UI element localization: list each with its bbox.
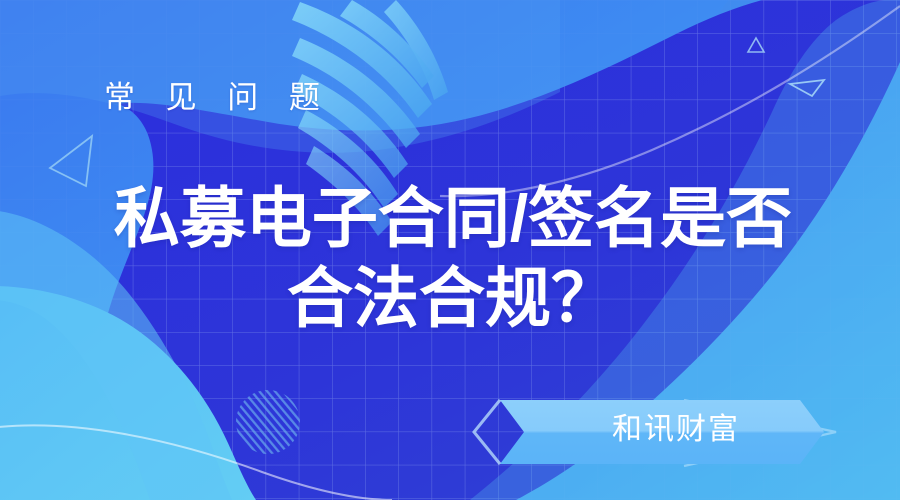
ribbon-shape [500, 400, 824, 464]
promo-banner: 常 见 问 题 私募电子合同/签名是否 合法合规？ 和讯财富 [0, 0, 900, 500]
striped-circle [236, 390, 300, 454]
banner-background-art [0, 0, 900, 500]
